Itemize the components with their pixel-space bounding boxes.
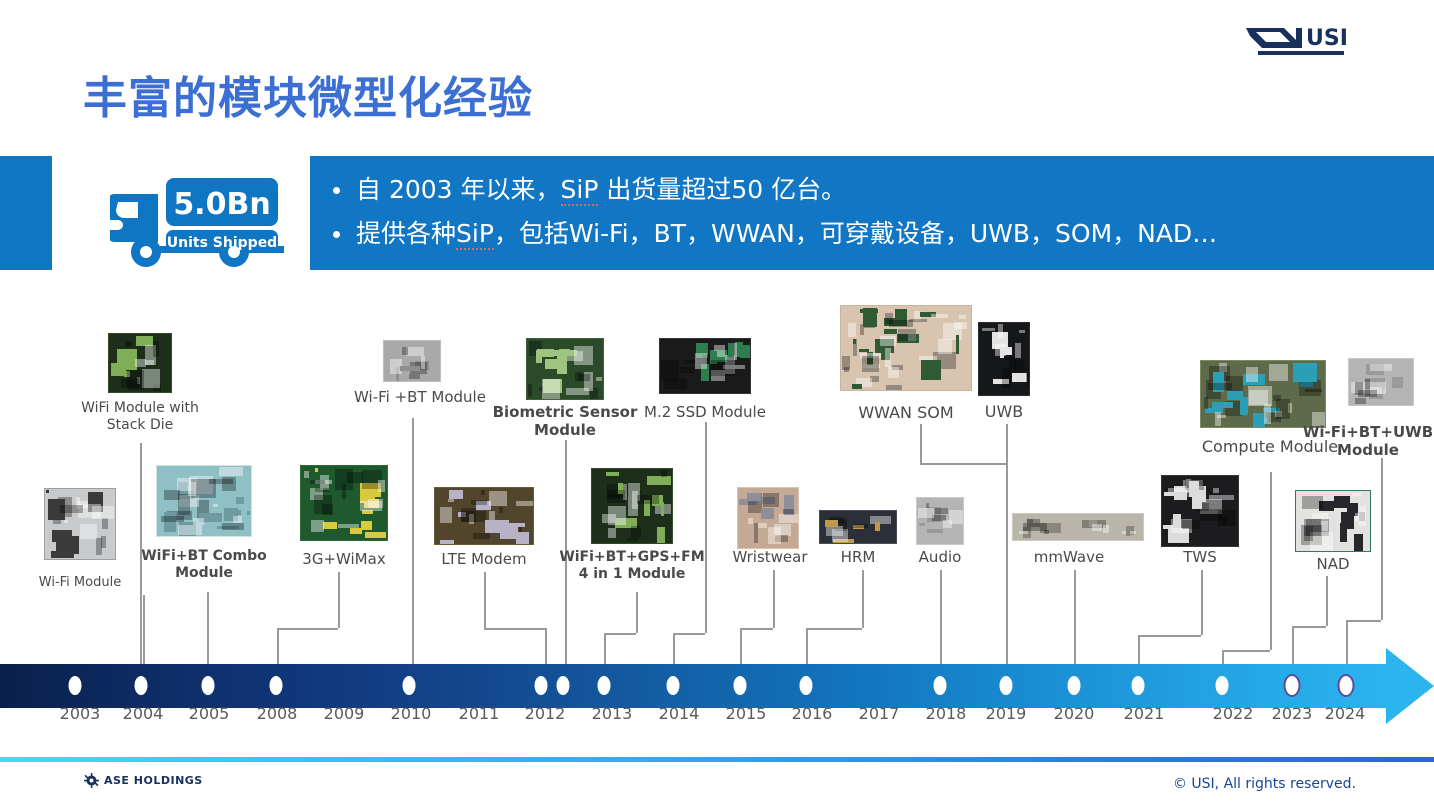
ase-holdings-label: ASE HOLDINGS bbox=[104, 774, 203, 787]
pcb-component bbox=[1365, 379, 1370, 396]
pcb-component bbox=[631, 526, 641, 538]
pcb-component bbox=[566, 388, 589, 395]
product-image-wwan-som bbox=[840, 305, 972, 391]
pcb-component bbox=[350, 528, 362, 534]
product-image-mmwave bbox=[1012, 513, 1144, 541]
timeline-dot bbox=[1216, 676, 1229, 695]
pcb-component bbox=[471, 500, 488, 505]
pcb-component bbox=[233, 510, 241, 515]
connector-wi-fi-bt-uwb-module bbox=[1346, 620, 1348, 664]
timeline-year-label: 2008 bbox=[257, 704, 298, 723]
pcb-component bbox=[323, 522, 337, 529]
pcb-component bbox=[51, 551, 74, 558]
product-label-biometric-sensor-module: Biometric Sensor Module bbox=[490, 404, 640, 439]
timeline-dot bbox=[69, 676, 82, 695]
pcb-component bbox=[311, 520, 325, 533]
connector-wwan-som bbox=[920, 424, 922, 463]
pcb-component bbox=[998, 324, 1003, 338]
timeline-dot bbox=[535, 676, 548, 695]
connector-3g-wimax bbox=[277, 628, 279, 664]
product-image-wifi-module-with-stack-die bbox=[108, 333, 172, 393]
usi-logo: USI bbox=[1244, 18, 1352, 58]
timeline-year-label: 2012 bbox=[525, 704, 566, 723]
timeline-dot bbox=[403, 676, 416, 695]
pcb-component bbox=[1246, 367, 1258, 383]
timeline-year-label: 2011 bbox=[459, 704, 500, 723]
timeline-dot bbox=[270, 676, 283, 695]
pcb-component bbox=[481, 490, 486, 495]
ase-gear-icon bbox=[84, 773, 99, 788]
pcb-component bbox=[222, 523, 244, 530]
pcb-component bbox=[1182, 520, 1200, 530]
pcb-component bbox=[1359, 506, 1366, 526]
pcb-component bbox=[1164, 492, 1187, 497]
product-label-wifi-bt-gps-fm-4in1-module: WiFi+BT+GPS+FM 4 in 1 Module bbox=[557, 549, 707, 582]
connector-wi-fi-bt-module bbox=[412, 418, 414, 664]
timeline-year-label: 2016 bbox=[792, 704, 833, 723]
pcb-component bbox=[222, 477, 236, 491]
banner-bullet-2: 提供各种SiP，包括Wi-Fi，BT，WWAN，可穿戴设备，UWB，SOM，NA… bbox=[356, 212, 1434, 256]
pcb-component bbox=[1208, 383, 1233, 390]
timeline-dot bbox=[557, 676, 570, 695]
pcb-component bbox=[499, 507, 504, 514]
pcb-component bbox=[888, 367, 899, 378]
connector-audio bbox=[940, 570, 942, 664]
pcb-component bbox=[489, 491, 507, 506]
connector-wristwear bbox=[773, 570, 775, 628]
pcb-component bbox=[213, 504, 219, 507]
pcb-component bbox=[135, 359, 145, 367]
pcb-component bbox=[1248, 386, 1272, 406]
pcb-component bbox=[844, 367, 850, 372]
product-image-m2-ssd-module bbox=[659, 338, 751, 394]
banner-bullet-list: 自 2003 年以来，SiP 出货量超过50 亿台。 提供各种SiP，包括Wi-… bbox=[310, 156, 1434, 256]
product-image-compute-module bbox=[1200, 360, 1326, 428]
pcb-component bbox=[1168, 488, 1191, 492]
pcb-component bbox=[473, 533, 490, 539]
connector-hrm bbox=[806, 628, 808, 664]
pcb-component bbox=[885, 313, 893, 324]
product-label-uwb: UWB bbox=[929, 403, 1079, 422]
pcb-component bbox=[1269, 364, 1289, 381]
pcb-component bbox=[102, 518, 109, 529]
units-shipped-truck-icon: 5.0Bn Units Shipped bbox=[110, 160, 290, 268]
timeline-year-label: 2004 bbox=[123, 704, 164, 723]
pcb-component bbox=[1264, 404, 1271, 424]
connector-m2-ssd-module bbox=[673, 633, 675, 664]
timeline-dot bbox=[598, 676, 611, 695]
connector-nad bbox=[1292, 626, 1326, 628]
pcb-component bbox=[848, 323, 856, 337]
footer-gradient-rule bbox=[0, 757, 1434, 762]
pcb-component bbox=[178, 525, 202, 535]
pcb-component bbox=[322, 504, 333, 515]
pcb-component bbox=[938, 339, 953, 355]
timeline-year-label: 2014 bbox=[659, 704, 700, 723]
pcb-component bbox=[926, 503, 929, 509]
connector-uwb bbox=[1006, 424, 1008, 664]
pcb-component bbox=[1299, 380, 1321, 396]
pcb-component bbox=[647, 476, 671, 485]
product-label-wi-fi-bt-uwb-module: Wi-Fi+BT+UWB Module bbox=[1293, 424, 1434, 459]
pcb-component bbox=[918, 508, 934, 518]
connector-m2-ssd-module bbox=[673, 633, 705, 635]
pcb-component bbox=[236, 497, 244, 504]
pcb-component bbox=[461, 508, 476, 522]
timeline-year-label: 2010 bbox=[391, 704, 432, 723]
copyright-text: © USI, All rights reserved. bbox=[1173, 776, 1356, 792]
pcb-component bbox=[1352, 493, 1361, 497]
product-image-wifi-bt-gps-fm-4in1-module bbox=[591, 468, 673, 544]
timeline-dot bbox=[734, 676, 747, 695]
timeline-year-label: 2009 bbox=[324, 704, 365, 723]
pcb-component bbox=[161, 516, 184, 522]
timeline-dot bbox=[202, 676, 215, 695]
pcb-component bbox=[758, 523, 767, 528]
pcb-component bbox=[734, 343, 738, 360]
pcb-component bbox=[1200, 509, 1223, 521]
pcb-component bbox=[608, 528, 616, 538]
product-label-wi-fi-bt-module: Wi-Fi +BT Module bbox=[345, 389, 495, 407]
slide-root: USI 丰富的模块微型化经验 5.0Bn Units Shipped 自 200… bbox=[0, 0, 1434, 807]
pcb-component bbox=[92, 506, 114, 519]
pcb-component bbox=[627, 538, 638, 541]
pcb-component bbox=[684, 360, 696, 365]
pcb-component bbox=[1092, 524, 1103, 532]
timeline-year-label: 2021 bbox=[1124, 704, 1165, 723]
pcb-component bbox=[542, 379, 561, 400]
pcb-component bbox=[537, 349, 554, 357]
pcb-component bbox=[1302, 496, 1324, 509]
connector-3g-wimax bbox=[338, 572, 340, 628]
pcb-component bbox=[606, 472, 620, 476]
bullet-1-mark: SiP bbox=[561, 175, 599, 206]
pcb-component bbox=[315, 488, 329, 492]
pcb-component bbox=[64, 520, 68, 523]
pcb-component bbox=[96, 538, 103, 555]
connector-compute-module bbox=[1222, 650, 1270, 652]
pcb-component bbox=[421, 356, 425, 369]
pcb-component bbox=[919, 523, 925, 526]
timeline-year-label: 2017 bbox=[859, 704, 900, 723]
product-image-wifi-bt-combo-module bbox=[156, 465, 252, 537]
pcb-component bbox=[440, 507, 452, 523]
product-image-lte-modem bbox=[434, 487, 534, 545]
pcb-component bbox=[315, 468, 318, 472]
pcb-component bbox=[1370, 364, 1392, 370]
pcb-component bbox=[1209, 495, 1234, 500]
pcb-component bbox=[768, 527, 781, 544]
pcb-component bbox=[127, 370, 143, 390]
pcb-component bbox=[360, 501, 382, 511]
pcb-component bbox=[661, 360, 679, 380]
pcb-component bbox=[400, 366, 420, 372]
pcb-component bbox=[153, 341, 159, 357]
pcb-component bbox=[80, 524, 97, 539]
pcb-component bbox=[885, 348, 891, 367]
product-label-m2-ssd-module: M.2 SSD Module bbox=[630, 404, 780, 422]
pcb-component bbox=[935, 508, 948, 514]
timeline-year-label: 2020 bbox=[1054, 704, 1095, 723]
product-image-biometric-sensor-module bbox=[526, 338, 604, 400]
pcb-component bbox=[761, 508, 774, 520]
badge-value: 5.0Bn bbox=[173, 187, 270, 222]
connector-wwan-som bbox=[920, 463, 1006, 465]
pcb-component bbox=[60, 505, 84, 513]
pcb-component bbox=[853, 524, 868, 528]
pcb-component bbox=[982, 328, 994, 331]
timeline-dot bbox=[1068, 676, 1081, 695]
pcb-component bbox=[142, 369, 161, 388]
pcb-component bbox=[853, 339, 856, 344]
pcb-component bbox=[516, 501, 533, 507]
pcb-component bbox=[1126, 526, 1130, 536]
pcb-component bbox=[1212, 402, 1233, 408]
timeline-dot bbox=[1132, 676, 1145, 695]
connector-tws bbox=[1138, 635, 1140, 664]
connector-wi-fi-module bbox=[143, 595, 145, 664]
badge-caption: Units Shipped bbox=[167, 235, 277, 251]
pcb-component bbox=[884, 329, 898, 333]
bullet-2-mark: SiP bbox=[456, 219, 494, 250]
product-label-3g-wimax: 3G+WiMax bbox=[269, 551, 419, 569]
connector-compute-module bbox=[1222, 650, 1224, 664]
timeline-year-label: 2022 bbox=[1213, 704, 1254, 723]
product-label-wifi-bt-combo-module: WiFi+BT Combo Module bbox=[129, 548, 279, 581]
pcb-component bbox=[825, 520, 838, 527]
timeline-dot bbox=[1340, 676, 1353, 695]
pcb-component bbox=[1217, 415, 1226, 418]
bullet-1-pre: 自 2003 年以来， bbox=[356, 175, 561, 204]
pcb-component bbox=[862, 356, 880, 372]
connector-lte-modem bbox=[545, 628, 547, 664]
pcb-component bbox=[637, 495, 659, 504]
pcb-component bbox=[111, 363, 121, 370]
product-label-mmwave: mmWave bbox=[994, 549, 1144, 567]
pcb-component bbox=[1019, 330, 1025, 333]
connector-mmwave bbox=[1074, 570, 1076, 664]
pcb-component bbox=[680, 367, 694, 373]
highlight-banner: 自 2003 年以来，SiP 出货量超过50 亿台。 提供各种SiP，包括Wi-… bbox=[310, 156, 1434, 270]
pcb-component bbox=[1354, 534, 1363, 551]
pcb-component bbox=[1189, 481, 1199, 497]
pcb-component bbox=[1293, 363, 1317, 383]
pcb-component bbox=[748, 518, 753, 525]
pcb-component bbox=[219, 467, 243, 476]
pcb-component bbox=[747, 493, 761, 501]
product-label-audio: Audio bbox=[865, 549, 1015, 567]
pcb-component bbox=[1103, 525, 1109, 533]
pcb-component bbox=[959, 315, 966, 319]
pcb-component bbox=[657, 527, 666, 543]
connector-hrm bbox=[862, 570, 864, 628]
product-image-wi-fi-bt-module bbox=[383, 340, 441, 382]
pcb-component bbox=[859, 349, 869, 353]
connector-wifi-bt-combo-module bbox=[207, 592, 209, 664]
pcb-component bbox=[188, 482, 196, 497]
product-image-wristwear bbox=[737, 487, 799, 549]
timeline-dot bbox=[800, 676, 813, 695]
pcb-component bbox=[956, 335, 960, 354]
pcb-component bbox=[931, 314, 948, 318]
pcb-component bbox=[557, 356, 568, 374]
pcb-component bbox=[875, 522, 880, 531]
pcb-component bbox=[1276, 399, 1290, 419]
pcb-component bbox=[559, 349, 570, 355]
pcb-component bbox=[1019, 531, 1028, 534]
pcb-component bbox=[378, 480, 385, 493]
pcb-component bbox=[1026, 367, 1029, 386]
timeline-dot bbox=[934, 676, 947, 695]
product-image-hrm bbox=[819, 510, 897, 544]
connector-tws bbox=[1138, 635, 1201, 637]
pcb-component bbox=[193, 518, 204, 525]
pcb-component bbox=[1304, 526, 1313, 541]
bullet-2-post: ，包括Wi-Fi，BT，WWAN，可穿戴设备，UWB，SOM，NAD… bbox=[494, 219, 1217, 248]
product-label-wifi-module-with-stack-die: WiFi Module with Stack Die bbox=[65, 400, 215, 433]
pcb-component bbox=[852, 384, 862, 389]
connector-lte-modem bbox=[484, 572, 486, 628]
pcb-component bbox=[664, 379, 686, 389]
pcb-component bbox=[574, 346, 593, 365]
pcb-component bbox=[46, 490, 49, 493]
pcb-component bbox=[361, 521, 372, 530]
product-image-wi-fi-module bbox=[44, 488, 116, 560]
connector-m2-ssd-module bbox=[705, 422, 707, 633]
timeline-year-label: 2003 bbox=[60, 704, 101, 723]
pcb-component bbox=[1027, 519, 1040, 528]
connector-wifi-bt-gps-fm-4in1-module bbox=[636, 592, 638, 633]
timeline-dot bbox=[135, 676, 148, 695]
timeline-arrow-head bbox=[1386, 648, 1434, 724]
timeline-year-label: 2005 bbox=[189, 704, 230, 723]
page-title: 丰富的模块微型化经验 bbox=[83, 62, 533, 126]
pcb-component bbox=[898, 329, 916, 341]
product-image-wi-fi-bt-uwb-module bbox=[1348, 358, 1414, 406]
connector-hrm bbox=[806, 628, 862, 630]
pcb-component bbox=[1012, 373, 1027, 382]
pcb-component bbox=[304, 471, 309, 478]
product-label-nad: NAD bbox=[1258, 556, 1408, 574]
bullet-2-pre: 提供各种 bbox=[356, 219, 456, 248]
pcb-component bbox=[919, 356, 938, 360]
product-image-uwb bbox=[978, 322, 1030, 396]
product-label-tws: TWS bbox=[1125, 549, 1275, 567]
pcb-component bbox=[178, 494, 191, 515]
connector-3g-wimax bbox=[277, 628, 338, 630]
timeline-year-label: 2019 bbox=[986, 704, 1027, 723]
timeline-year-label: 2015 bbox=[726, 704, 767, 723]
pcb-component bbox=[661, 502, 664, 516]
pcb-component bbox=[1213, 488, 1220, 493]
connector-wi-fi-bt-uwb-module bbox=[1346, 620, 1381, 622]
connector-nad bbox=[1292, 626, 1294, 664]
connector-wifi-bt-gps-fm-4in1-module bbox=[604, 633, 636, 635]
pcb-component bbox=[440, 540, 455, 545]
connector-lte-modem bbox=[484, 628, 545, 630]
pcb-component bbox=[233, 516, 242, 523]
pcb-component bbox=[695, 353, 707, 369]
pcb-component bbox=[449, 490, 464, 499]
pcb-component bbox=[927, 529, 944, 534]
pcb-component bbox=[53, 519, 60, 525]
pcb-component bbox=[886, 385, 902, 390]
product-image-3g-wimax bbox=[300, 465, 388, 541]
timeline-year-label: 2024 bbox=[1325, 704, 1366, 723]
timeline-dot bbox=[1000, 676, 1013, 695]
connector-wifi-bt-gps-fm-4in1-module bbox=[604, 633, 606, 664]
pcb-component bbox=[954, 322, 968, 329]
product-label-lte-modem: LTE Modem bbox=[409, 551, 559, 569]
product-image-audio bbox=[916, 497, 964, 545]
pcb-component bbox=[870, 516, 891, 524]
pcb-component bbox=[1240, 397, 1248, 415]
pcb-component bbox=[448, 499, 454, 502]
usi-logo-text: USI bbox=[1306, 26, 1348, 51]
pcb-component bbox=[783, 509, 794, 514]
pcb-component bbox=[740, 345, 751, 358]
banner-bullet-1: 自 2003 年以来，SiP 出货量超过50 亿台。 bbox=[356, 168, 1434, 212]
pcb-component bbox=[1002, 368, 1011, 388]
timeline-year-label: 2023 bbox=[1272, 704, 1313, 723]
pcb-component bbox=[1341, 512, 1354, 529]
pcb-component bbox=[247, 511, 251, 515]
timeline-dot bbox=[667, 676, 680, 695]
pcb-component bbox=[607, 490, 625, 504]
pcb-component bbox=[310, 480, 326, 485]
pcb-component bbox=[528, 384, 532, 397]
pcb-component bbox=[608, 506, 626, 525]
pcb-component bbox=[661, 470, 667, 477]
pcb-component bbox=[1014, 360, 1025, 372]
timeline-year-label: 2013 bbox=[592, 704, 633, 723]
connector-tws bbox=[1201, 570, 1203, 635]
timeline-year-label: 2018 bbox=[926, 704, 967, 723]
pcb-component bbox=[125, 341, 133, 347]
pcb-component bbox=[342, 484, 346, 499]
pcb-component bbox=[1173, 514, 1182, 528]
pcb-component bbox=[485, 520, 509, 533]
ase-holdings-logo: ASE HOLDINGS bbox=[84, 772, 203, 788]
connector-wristwear bbox=[740, 628, 742, 664]
connector-wristwear bbox=[740, 628, 773, 630]
pcb-component bbox=[763, 493, 779, 507]
pcb-component bbox=[409, 374, 421, 379]
product-image-nad bbox=[1295, 490, 1371, 552]
pcb-component bbox=[1000, 352, 1004, 358]
pcb-component bbox=[921, 360, 941, 380]
banner-left-accent-block bbox=[0, 156, 52, 270]
product-image-tws bbox=[1161, 475, 1239, 547]
pcb-component bbox=[1355, 398, 1366, 404]
pcb-component bbox=[754, 523, 758, 543]
pcb-component bbox=[880, 336, 896, 346]
pcb-component bbox=[402, 347, 409, 356]
pcb-component bbox=[826, 526, 843, 536]
bullet-1-post: 出货量超过50 亿台。 bbox=[598, 175, 846, 204]
pcb-component bbox=[1015, 343, 1021, 359]
pcb-component bbox=[1392, 377, 1402, 387]
timeline-dot bbox=[1286, 676, 1299, 695]
pcb-component bbox=[596, 377, 601, 381]
pcb-component bbox=[943, 520, 953, 528]
pcb-component bbox=[1334, 496, 1350, 508]
connector-nad bbox=[1326, 576, 1328, 626]
pcb-component bbox=[365, 532, 386, 538]
pcb-component bbox=[578, 374, 591, 381]
connector-wi-fi-bt-uwb-module bbox=[1381, 458, 1383, 620]
pcb-component bbox=[711, 360, 735, 376]
